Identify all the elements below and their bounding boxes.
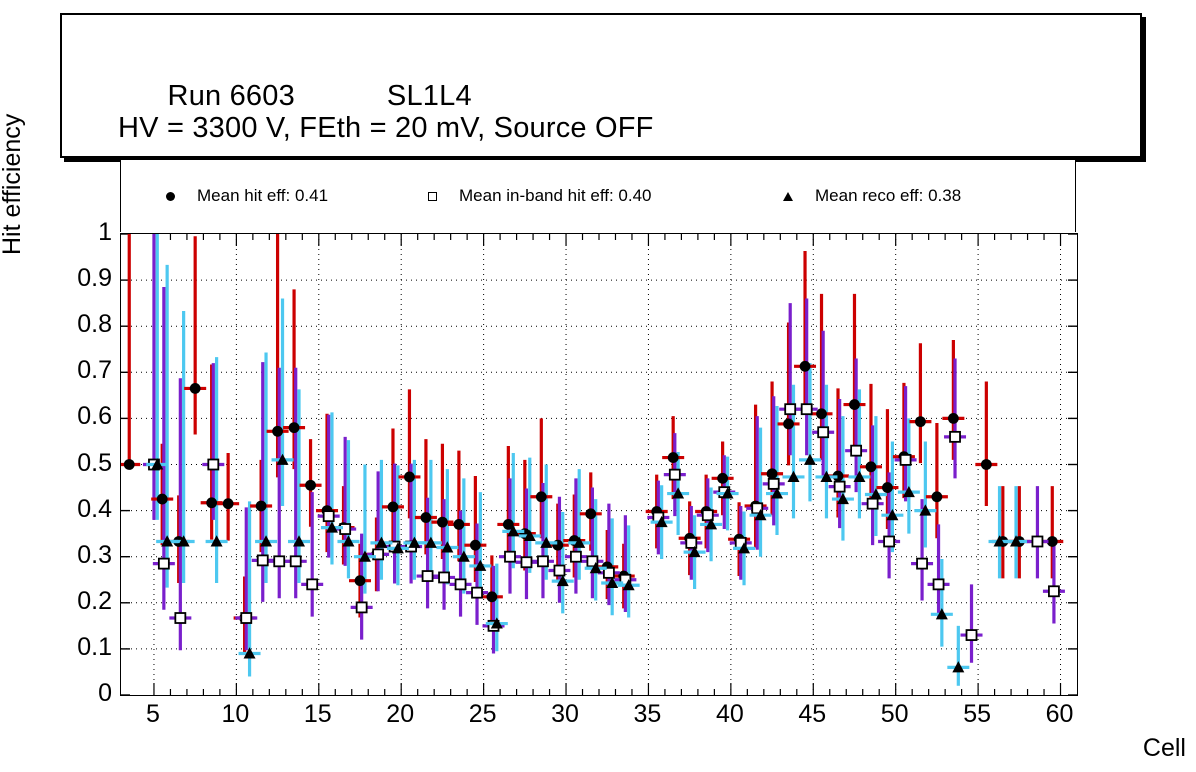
data-point-hit-eff xyxy=(206,497,217,508)
error-bars-0 xyxy=(129,234,1052,655)
x-tick-label: 15 xyxy=(288,700,348,729)
data-point-inband-eff xyxy=(851,446,861,456)
data-point-hit-eff xyxy=(124,459,135,470)
y-axis-tick-labels: 10.90.80.70.60.50.40.30.20.10 xyxy=(48,233,112,694)
data-point-inband-eff xyxy=(769,479,779,489)
data-point-hit-eff xyxy=(470,540,481,551)
data-point-inband-eff xyxy=(324,511,334,521)
data-point-hit-eff xyxy=(289,422,300,433)
data-point-hit-eff xyxy=(816,408,827,419)
x-tick-label: 35 xyxy=(617,700,677,729)
open-square-marker-icon xyxy=(409,192,455,201)
y-tick-label: 0.8 xyxy=(56,312,112,337)
data-point-inband-eff xyxy=(175,613,185,623)
data-point-inband-eff xyxy=(357,602,367,612)
data-point-inband-eff xyxy=(868,499,878,509)
data-point-inband-eff xyxy=(472,588,482,598)
data-point-inband-eff xyxy=(538,556,548,566)
data-point-inband-eff xyxy=(967,630,977,640)
data-point-hit-eff xyxy=(948,413,959,424)
x-tick-label: 20 xyxy=(370,700,430,729)
x-tick-label: 50 xyxy=(865,700,925,729)
y-tick-label: 0.7 xyxy=(56,358,112,383)
data-point-hit-eff xyxy=(767,468,778,479)
data-point-inband-eff xyxy=(670,470,680,480)
data-point-hit-eff xyxy=(536,491,547,502)
filled-triangle-marker-icon xyxy=(765,192,811,201)
axis-ticks xyxy=(121,234,1077,695)
data-point-hit-eff xyxy=(1047,536,1058,547)
data-point-hit-eff xyxy=(355,575,366,586)
data-point-inband-eff xyxy=(950,432,960,442)
data-point-inband-eff xyxy=(208,460,218,470)
data-point-hit-eff xyxy=(800,361,811,372)
chart-canvas: Run 6603SL1L4 HV = 3300 V, FEth = 20 mV,… xyxy=(0,0,1196,772)
data-point-hit-eff xyxy=(849,399,860,410)
x-tick-label: 55 xyxy=(947,700,1007,729)
data-point-inband-eff xyxy=(934,579,944,589)
legend: Mean hit eff: 0.41 Mean in-band hit eff:… xyxy=(120,160,1076,232)
data-point-inband-eff xyxy=(159,559,169,569)
x-tick-label: 45 xyxy=(782,700,842,729)
y-tick-label: 0 xyxy=(56,681,112,706)
data-point-hit-eff xyxy=(157,494,168,505)
title-box: Run 6603SL1L4 HV = 3300 V, FEth = 20 mV,… xyxy=(60,13,1142,158)
data-point-inband-eff xyxy=(291,556,301,566)
data-point-hit-eff xyxy=(388,502,399,513)
legend-label-inband-eff: Mean in-band hit eff: 0.40 xyxy=(459,186,652,206)
legend-label-hit-eff: Mean hit eff: 0.41 xyxy=(197,186,328,206)
data-point-hit-eff xyxy=(915,416,926,427)
data-point-inband-eff xyxy=(802,404,812,414)
data-point-hit-eff xyxy=(882,482,893,493)
data-point-inband-eff xyxy=(456,579,466,589)
data-point-inband-eff xyxy=(1032,536,1042,546)
y-tick-label: 0.4 xyxy=(56,497,112,522)
x-tick-label: 5 xyxy=(123,700,183,729)
data-point-inband-eff xyxy=(835,482,845,492)
data-point-hit-eff xyxy=(668,452,679,463)
data-point-inband-eff xyxy=(521,557,531,567)
legend-entry-reco-eff: Mean reco eff: 0.38 xyxy=(765,184,961,208)
data-point-hit-eff xyxy=(190,383,201,394)
legend-entry-hit-eff: Mean hit eff: 0.41 xyxy=(147,184,328,208)
x-tick-label: 60 xyxy=(1030,700,1090,729)
data-point-inband-eff xyxy=(818,427,828,437)
conditions-label: HV = 3300 V, FEth = 20 mV, Source OFF xyxy=(118,112,654,145)
data-point-hit-eff xyxy=(404,472,415,483)
y-tick-label: 1 xyxy=(56,220,112,245)
y-tick-label: 0.3 xyxy=(56,543,112,568)
data-point-hit-eff xyxy=(256,501,267,512)
data-point-hit-eff xyxy=(305,480,316,491)
x-axis-title: Cell xyxy=(1143,734,1186,763)
plot-svg xyxy=(121,234,1077,695)
data-point-inband-eff xyxy=(439,572,449,582)
data-point-hit-eff xyxy=(931,491,942,502)
filled-circle-marker-icon xyxy=(147,192,193,201)
superlayer-label: SL1L4 xyxy=(387,80,472,113)
x-tick-label: 40 xyxy=(700,700,760,729)
y-tick-label: 0.2 xyxy=(56,589,112,614)
legend-label-reco-eff: Mean reco eff: 0.38 xyxy=(815,186,961,206)
data-point-hit-eff xyxy=(437,517,448,528)
grid-lines xyxy=(121,234,1077,695)
run-label: Run 6603 xyxy=(168,80,295,113)
data-point-inband-eff xyxy=(1049,586,1059,596)
data-point-hit-eff xyxy=(421,512,432,523)
data-point-inband-eff xyxy=(241,613,251,623)
data-point-hit-eff xyxy=(223,498,234,509)
y-axis-title: Hit efficiency xyxy=(0,35,27,255)
data-point-hit-eff xyxy=(453,519,464,530)
data-point-hit-eff xyxy=(866,461,877,472)
y-tick-label: 0.5 xyxy=(56,451,112,476)
data-point-inband-eff xyxy=(505,552,515,562)
data-point-hit-eff xyxy=(272,426,283,437)
data-point-inband-eff xyxy=(307,579,317,589)
data-point-inband-eff xyxy=(917,559,927,569)
y-tick-label: 0.1 xyxy=(56,635,112,660)
x-tick-label: 10 xyxy=(205,700,265,729)
x-tick-label: 25 xyxy=(453,700,513,729)
x-tick-label: 30 xyxy=(535,700,595,729)
data-point-inband-eff xyxy=(554,566,564,576)
data-point-hit-eff xyxy=(486,591,497,602)
legend-entry-inband-eff: Mean in-band hit eff: 0.40 xyxy=(409,184,652,208)
data-point-hit-eff xyxy=(717,473,728,484)
data-point-inband-eff xyxy=(274,556,284,566)
y-tick-label: 0.9 xyxy=(56,266,112,291)
data-point-inband-eff xyxy=(571,552,581,562)
data-point-inband-eff xyxy=(423,571,433,581)
y-tick-label: 0.6 xyxy=(56,404,112,429)
plot-area xyxy=(120,233,1078,696)
data-point-inband-eff xyxy=(258,555,268,565)
data-point-inband-eff xyxy=(785,404,795,414)
data-point-hit-eff xyxy=(585,508,596,519)
data-point-hit-eff xyxy=(783,419,794,430)
data-point-inband-eff xyxy=(884,536,894,546)
data-point-hit-eff xyxy=(981,459,992,470)
data-point-inband-eff xyxy=(901,455,911,465)
